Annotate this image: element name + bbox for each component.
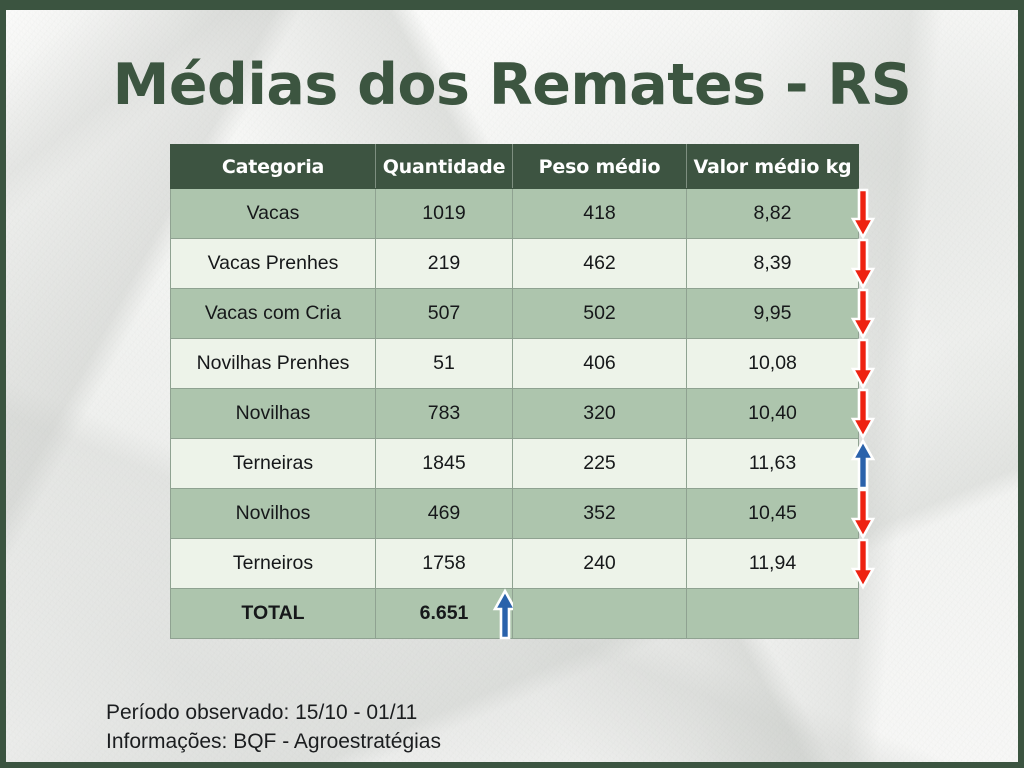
cell-valor-medio-kg: 8,82 <box>687 189 859 239</box>
cell-quantidade: 1019 <box>376 189 513 239</box>
cell-categoria: Terneiras <box>171 439 376 489</box>
table-row: Novilhas78332010,40 <box>171 389 859 439</box>
cell-categoria: Vacas Prenhes <box>171 239 376 289</box>
trend-down-arrow-icon <box>850 288 876 340</box>
cell-peso-medio: 418 <box>513 189 687 239</box>
trend-up-arrow-icon <box>850 438 876 490</box>
cell-valor-medio-kg: 10,40 <box>687 389 859 439</box>
cell-categoria: Terneiros <box>171 539 376 589</box>
table-row: Novilhas Prenhes5140610,08 <box>171 339 859 389</box>
cell-peso-medio: 502 <box>513 289 687 339</box>
table-row: Novilhos46935210,45 <box>171 489 859 539</box>
valor-medio-kg-value: 9,95 <box>754 302 792 325</box>
slide-frame: Médias dos Remates - RS Categoria Quanti… <box>0 0 1024 768</box>
cell-peso-medio: 462 <box>513 239 687 289</box>
cell-peso-medio: 320 <box>513 389 687 439</box>
table-row: Vacas10194188,82 <box>171 189 859 239</box>
cell-quantidade: 1845 <box>376 439 513 489</box>
cell-peso-medio: 240 <box>513 539 687 589</box>
paper-background: Médias dos Remates - RS Categoria Quanti… <box>6 10 1018 762</box>
cell-valor-medio-kg: 10,08 <box>687 339 859 389</box>
table-row: Vacas com Cria5075029,95 <box>171 289 859 339</box>
column-header-peso-medio: Peso médio <box>513 145 687 189</box>
cell-valor-medio-kg: 10,45 <box>687 489 859 539</box>
column-header-categoria: Categoria <box>171 145 376 189</box>
valor-medio-kg-value: 10,45 <box>748 502 797 525</box>
total-peso-medio <box>513 589 687 639</box>
valor-medio-kg-value: 11,63 <box>749 452 796 475</box>
cell-valor-medio-kg: 8,39 <box>687 239 859 289</box>
total-quantidade: 6.651 <box>376 589 513 639</box>
cell-categoria: Vacas <box>171 189 376 239</box>
cell-quantidade: 219 <box>376 239 513 289</box>
cell-valor-medio-kg: 11,63 <box>687 439 859 489</box>
cell-quantidade: 51 <box>376 339 513 389</box>
table-header-row: Categoria Quantidade Peso médio Valor mé… <box>171 145 859 189</box>
trend-down-arrow-icon <box>850 188 876 240</box>
valor-medio-kg-value: 8,82 <box>754 202 792 225</box>
table-body: Vacas10194188,82Vacas Prenhes2194628,39V… <box>171 189 859 639</box>
valor-medio-kg-value: 8,39 <box>754 252 792 275</box>
averages-table: Categoria Quantidade Peso médio Valor mé… <box>170 144 859 639</box>
cell-peso-medio: 225 <box>513 439 687 489</box>
trend-down-arrow-icon <box>850 388 876 440</box>
cell-peso-medio: 406 <box>513 339 687 389</box>
cell-categoria: Vacas com Cria <box>171 289 376 339</box>
table-row: Vacas Prenhes2194628,39 <box>171 239 859 289</box>
trend-down-arrow-icon <box>850 538 876 590</box>
trend-down-arrow-icon <box>850 488 876 540</box>
page-title: Médias dos Remates - RS <box>6 52 1018 118</box>
cell-categoria: Novilhas Prenhes <box>171 339 376 389</box>
cell-valor-medio-kg: 11,94 <box>687 539 859 589</box>
valor-medio-kg-value: 10,08 <box>748 352 797 375</box>
footer-notes: Período observado: 15/10 - 01/11 Informa… <box>106 698 441 756</box>
cell-quantidade: 783 <box>376 389 513 439</box>
column-header-quantidade: Quantidade <box>376 145 513 189</box>
trend-down-arrow-icon <box>850 338 876 390</box>
cell-valor-medio-kg: 9,95 <box>687 289 859 339</box>
valor-medio-kg-value: 10,40 <box>748 402 797 425</box>
footer-source-line: Informações: BQF - Agroestratégias <box>106 727 441 756</box>
total-label: TOTAL <box>171 589 376 639</box>
trend-down-arrow-icon <box>850 238 876 290</box>
footer-period-line: Período observado: 15/10 - 01/11 <box>106 698 441 727</box>
table-row: Terneiros175824011,94 <box>171 539 859 589</box>
column-header-valor-medio-kg: Valor médio kg <box>687 145 859 189</box>
total-valor-medio-kg <box>687 589 859 639</box>
cell-quantidade: 1758 <box>376 539 513 589</box>
averages-table-container: Categoria Quantidade Peso médio Valor mé… <box>170 144 858 646</box>
cell-quantidade: 507 <box>376 289 513 339</box>
table-total-row: TOTAL6.651 <box>171 589 859 639</box>
cell-categoria: Novilhos <box>171 489 376 539</box>
valor-medio-kg-value: 11,94 <box>749 552 796 575</box>
cell-categoria: Novilhas <box>171 389 376 439</box>
cell-peso-medio: 352 <box>513 489 687 539</box>
cell-quantidade: 469 <box>376 489 513 539</box>
table-row: Terneiras184522511,63 <box>171 439 859 489</box>
